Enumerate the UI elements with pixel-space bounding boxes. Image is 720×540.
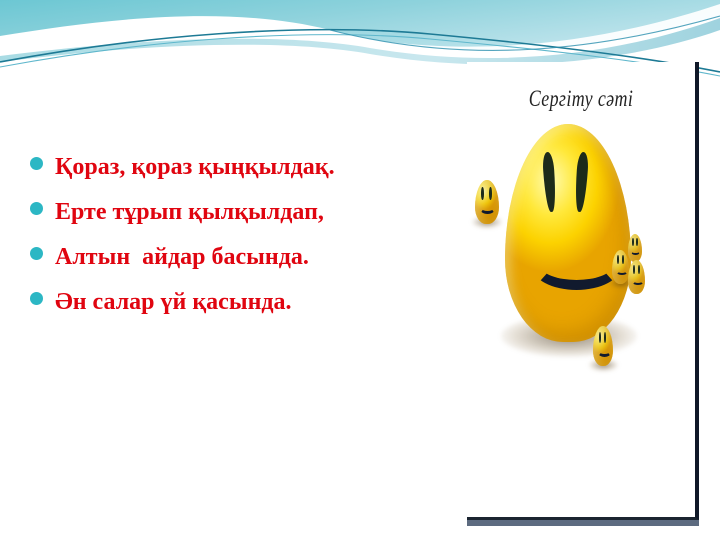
list-item: Ән салар үй қасында.	[30, 287, 450, 322]
picture-title-text: Сергіту сәті	[492, 86, 670, 112]
eye-icon	[542, 152, 557, 213]
eye-icon	[481, 187, 484, 200]
smiley-main	[505, 124, 631, 342]
smiley-small-right-top	[628, 234, 642, 262]
eye-icon	[604, 332, 606, 343]
bullet-text: Ерте тұрып қылқылдап,	[55, 197, 324, 227]
eye-icon	[617, 255, 619, 264]
bullet-text: Ән салар үй қасында.	[55, 287, 292, 317]
wave-shape-white-ribbon	[0, 4, 720, 57]
bullet-dot-icon	[30, 292, 43, 305]
wave-shape-secondary	[0, 18, 720, 65]
smiley-small-right-mid	[612, 250, 629, 284]
eye-icon	[636, 238, 638, 246]
smiley-small-left	[475, 180, 499, 224]
bullet-dot-icon	[30, 247, 43, 260]
smile-mouth-icon	[532, 242, 621, 290]
eye-icon	[633, 265, 635, 274]
wave-shape-primary	[0, 0, 720, 50]
eye-icon	[638, 265, 640, 274]
smile-mouth-icon	[631, 249, 640, 255]
smile-mouth-icon	[480, 204, 495, 214]
eye-icon	[599, 332, 601, 343]
bullet-list: Қораз, қораз қыңқылдақ. Ерте тұрып қылқы…	[30, 152, 450, 332]
bullet-text: Қораз, қораз қыңқылдақ.	[55, 152, 335, 182]
smile-mouth-icon	[616, 268, 628, 275]
list-item: Қораз, қораз қыңқылдақ.	[30, 152, 450, 187]
list-item: Алтын айдар басында.	[30, 242, 450, 277]
bullet-dot-icon	[30, 157, 43, 170]
wave-line-accent	[330, 16, 720, 50]
smile-mouth-icon	[632, 278, 644, 285]
smiley-photo: Сергіту сәті	[467, 62, 695, 514]
eye-icon	[622, 255, 624, 264]
smile-mouth-icon	[598, 348, 611, 357]
picture-frame: Сергіту сәті	[467, 62, 699, 520]
list-item: Ерте тұрып қылқылдап,	[30, 197, 450, 232]
bullet-text: Алтын айдар басында.	[55, 242, 309, 272]
bullet-dot-icon	[30, 202, 43, 215]
eye-icon	[489, 187, 492, 200]
smiley-small-right-outer	[628, 260, 645, 294]
eye-icon	[632, 238, 634, 246]
eye-icon	[574, 152, 589, 213]
presentation-slide: Қораз, қораз қыңқылдақ. Ерте тұрып қылқы…	[0, 0, 720, 540]
